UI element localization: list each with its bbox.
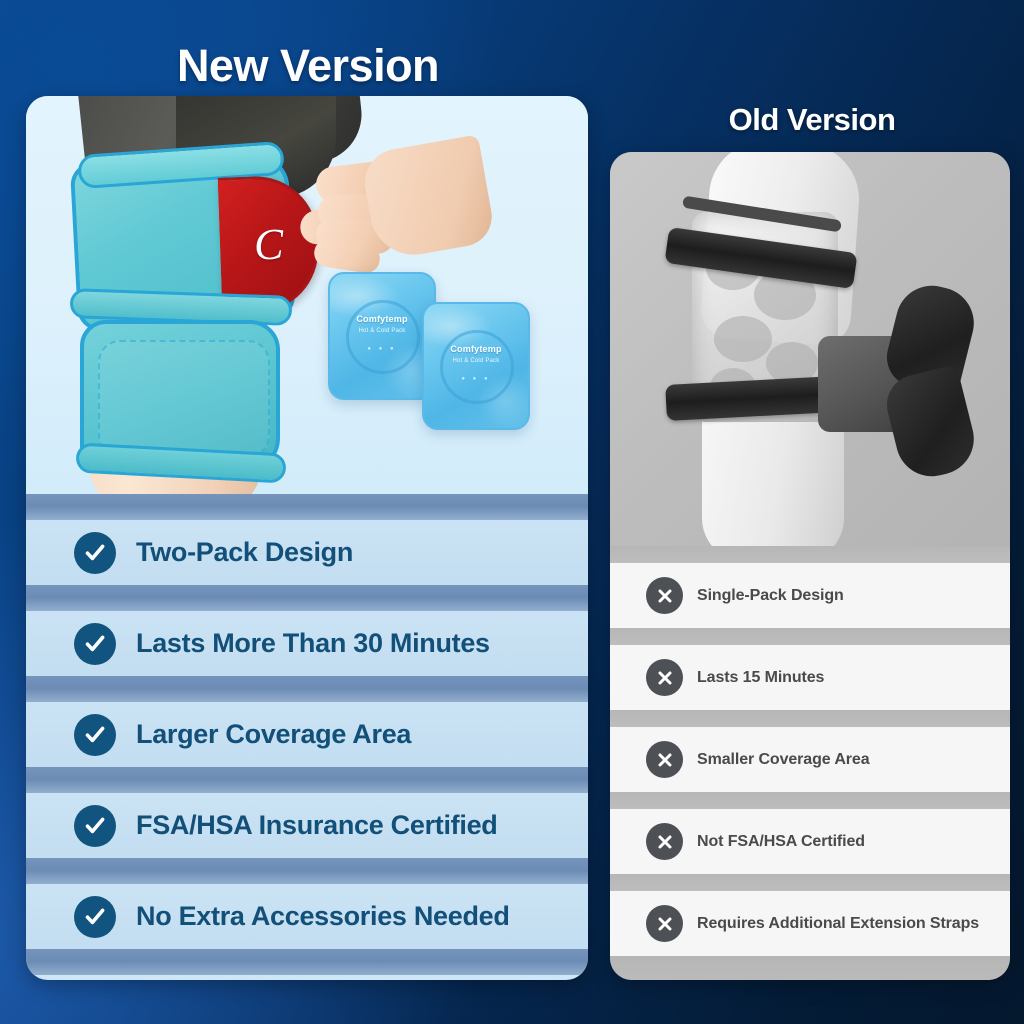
row-separator [26,585,588,611]
feature-label: Two-Pack Design [136,537,353,568]
feature-row: Lasts More Than 30 Minutes [26,611,588,676]
x-icon [646,577,683,614]
knee-wrap-seam [98,340,270,458]
old-version-title: Old Version [610,102,1014,138]
row-separator [26,767,588,793]
feature-label: Requires Additional Extension Straps [697,915,979,933]
gel-pack-ring [346,300,420,374]
feature-row: Lasts 15 Minutes [610,645,1010,710]
feature-row: Requires Additional Extension Straps [610,891,1010,956]
comparison-infographic: New Version Old Version C [0,0,1024,1024]
check-icon [74,532,116,574]
model-hand [294,148,412,278]
gel-pack-subtitle: Hot & Cold Pack [424,358,528,364]
row-separator [610,628,1010,645]
row-separator [26,676,588,702]
row-separator [26,949,588,975]
feature-row: Not FSA/HSA Certified [610,809,1010,874]
extension-strap [818,280,974,476]
row-separator [610,792,1010,809]
check-icon [74,805,116,847]
old-version-feature-list: Single-Pack Design Lasts 15 Minutes Smal… [610,546,1010,980]
gel-pack-brand-label: Comfytemp [424,344,528,354]
feature-row: Larger Coverage Area [26,702,588,767]
row-separator [26,858,588,884]
feature-row: FSA/HSA Insurance Certified [26,793,588,858]
feature-label: Not FSA/HSA Certified [697,833,865,851]
feature-label: No Extra Accessories Needed [136,901,510,932]
new-version-product-image: C Comfytemp Hot & Cold Pack ● ● ● [26,96,588,494]
gel-pack-subtitle: Hot & Cold Pack [330,328,434,334]
row-separator [610,546,1010,563]
gel-pack-back: Comfytemp Hot & Cold Pack ● ● ● [328,272,436,400]
gel-pack-icons: ● ● ● [424,376,528,382]
gel-pack-ring [440,330,514,404]
x-icon [646,741,683,778]
feature-label: Smaller Coverage Area [697,751,870,769]
brand-monogram: C [253,223,284,268]
row-separator [610,710,1010,727]
gel-blob [714,316,772,362]
gel-pack-icons: ● ● ● [330,346,434,352]
row-separator [610,874,1010,891]
old-version-card: Single-Pack Design Lasts 15 Minutes Smal… [610,152,1010,980]
gel-pack-front: Comfytemp Hot & Cold Pack ● ● ● [422,302,530,430]
x-icon [646,905,683,942]
new-version-card: C Comfytemp Hot & Cold Pack ● ● ● [26,96,588,980]
feature-label: Lasts 15 Minutes [697,669,824,687]
row-separator [610,956,1010,980]
x-icon [646,823,683,860]
old-version-product-image [610,152,1010,546]
row-separator [26,494,588,520]
feature-row: Single-Pack Design [610,563,1010,628]
feature-label: FSA/HSA Insurance Certified [136,810,497,841]
feature-label: Larger Coverage Area [136,719,411,750]
check-icon [74,623,116,665]
feature-label: Lasts More Than 30 Minutes [136,628,490,659]
extension-strap-arm-lower [881,364,982,484]
feature-row: Two-Pack Design [26,520,588,585]
new-version-feature-list: Two-Pack Design Lasts More Than 30 Minut… [26,494,588,975]
new-version-title: New Version [0,40,616,92]
check-icon [74,896,116,938]
feature-row: Smaller Coverage Area [610,727,1010,792]
check-icon [74,714,116,756]
feature-label: Single-Pack Design [697,587,844,605]
x-icon [646,659,683,696]
feature-row: No Extra Accessories Needed [26,884,588,949]
gel-pack-brand-label: Comfytemp [330,314,434,324]
